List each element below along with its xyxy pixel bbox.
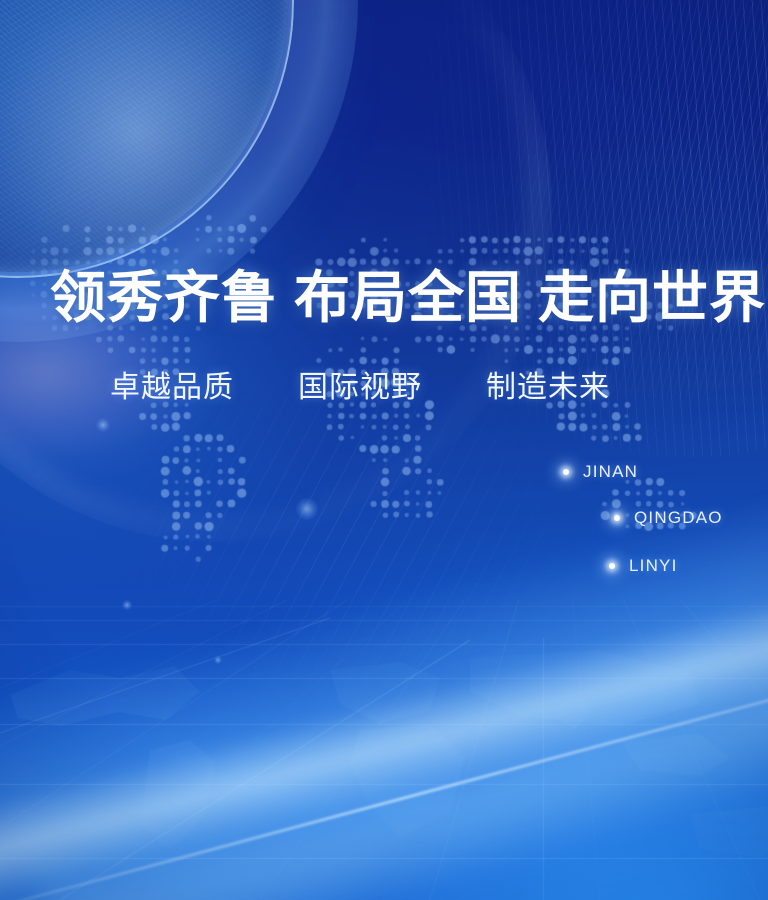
headline-segment-3: 走向世界 [538, 268, 766, 330]
subtitle-segment-3: 制造未来 [486, 371, 610, 404]
city-dot-icon [609, 563, 615, 569]
subtitle-segment-1: 卓越品质 [110, 371, 234, 404]
city-dot-icon [614, 515, 620, 521]
page-title: 领秀齐鲁布局全国走向世界 [50, 268, 766, 330]
headline-segment-1: 领秀齐鲁 [50, 268, 278, 330]
city-dot-icon [563, 469, 569, 475]
page-subtitle: 卓越品质国际视野制造未来 [110, 368, 610, 408]
city-label-qingdao: QINGDAO [634, 508, 723, 528]
hero-banner: 领秀齐鲁布局全国走向世界 卓越品质国际视野制造未来 JINAN QINGDAO … [0, 0, 768, 900]
headline-segment-2: 布局全国 [294, 268, 522, 330]
city-marker-qingdao[interactable]: QINGDAO [614, 508, 723, 528]
banner-text-block: 领秀齐鲁布局全国走向世界 卓越品质国际视野制造未来 JINAN QINGDAO … [0, 0, 768, 900]
city-marker-jinan[interactable]: JINAN [563, 462, 638, 482]
subtitle-segment-2: 国际视野 [298, 371, 422, 404]
city-label-linyi: LINYI [629, 556, 678, 576]
city-marker-linyi[interactable]: LINYI [609, 556, 678, 576]
city-label-jinan: JINAN [583, 462, 638, 482]
